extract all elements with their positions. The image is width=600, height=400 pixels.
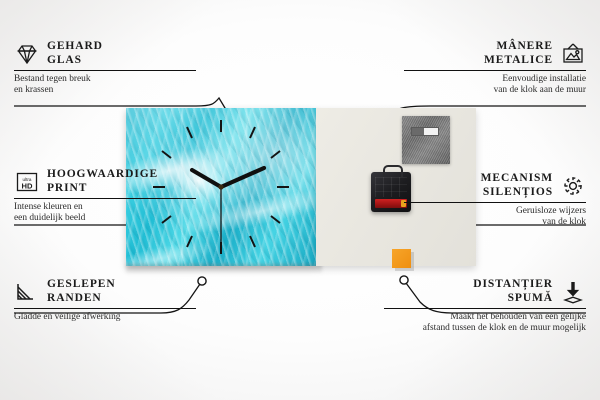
feature-title: GEHARD GLAS <box>47 40 103 67</box>
feature-head: MÂNERE METALICE <box>404 40 586 67</box>
battery <box>375 199 407 208</box>
divider <box>384 308 586 309</box>
hotspot-geslepen-randen[interactable] <box>198 277 206 285</box>
hanger-slot <box>411 127 439 136</box>
ultra-hd-icon: ultraHD <box>14 170 40 194</box>
feature-title: MÂNERE METALICE <box>404 40 553 67</box>
feature-caption: Maakt het behouden van een gelijke afsta… <box>384 312 586 335</box>
feature-caption: Eenvoudige installatie van de klok aan d… <box>404 74 586 97</box>
divider <box>14 308 196 309</box>
feature-caption: Gladde en veilige afwerking <box>14 312 196 323</box>
svg-text:HD: HD <box>22 181 33 190</box>
minute-hand <box>192 170 221 187</box>
divider <box>14 70 196 71</box>
feature-title: DISTANȚIER SPUMĂ <box>384 278 553 305</box>
feature-head: GESLEPEN RANDEN <box>14 278 196 305</box>
mechanism-hook <box>383 165 403 177</box>
feature-gehard-glas[interactable]: GEHARD GLAS Bestand tegen breuk en krass… <box>14 40 196 97</box>
feature-geslepen-randen[interactable]: GESLEPEN RANDEN Gladde en veilige afwerk… <box>14 278 196 323</box>
feature-head: DISTANȚIER SPUMĂ <box>384 278 586 305</box>
beveled-edges-icon <box>14 280 40 304</box>
hour-hand <box>221 168 264 187</box>
feature-caption: Geruisloze wijzers van de klok <box>404 206 586 229</box>
feature-head: MECANISM SILENȚIOS <box>404 172 586 199</box>
divider <box>14 198 196 199</box>
picture-frame-icon <box>560 42 586 66</box>
divider <box>404 70 586 71</box>
feature-title: GESLEPEN RANDEN <box>47 278 116 305</box>
feature-head: ultraHD HOOGWAARDIGE PRINT <box>14 168 196 195</box>
gear-icon <box>560 174 586 198</box>
feature-distantier-spuma[interactable]: DISTANȚIER SPUMĂ Maakt het behouden van … <box>384 278 586 335</box>
feature-hoogwaardige-print[interactable]: ultraHD HOOGWAARDIGE PRINT Intense kleur… <box>14 168 196 225</box>
diamond-icon <box>14 42 40 66</box>
spacer-arrow-icon <box>560 280 586 304</box>
infographic-canvas: GEHARD GLAS Bestand tegen breuk en krass… <box>0 0 600 400</box>
feature-title: MECANISM SILENȚIOS <box>404 172 553 199</box>
feature-caption: Intense kleuren en een duidelijk beeld <box>14 202 196 225</box>
hand-hub <box>218 184 223 189</box>
divider <box>404 202 586 203</box>
metal-hanger <box>402 116 450 164</box>
feature-title: HOOGWAARDIGE PRINT <box>47 168 158 195</box>
foam-spacer <box>392 249 411 268</box>
feature-head: GEHARD GLAS <box>14 40 196 67</box>
feature-mecanism-silentios[interactable]: MECANISM SILENȚIOS Geruisloze wijzers va… <box>404 172 586 229</box>
feature-manere-metalice[interactable]: MÂNERE METALICE Eenvoudige installatie v… <box>404 40 586 97</box>
feature-caption: Bestand tegen breuk en krassen <box>14 74 196 97</box>
mechanism-body <box>375 177 407 197</box>
